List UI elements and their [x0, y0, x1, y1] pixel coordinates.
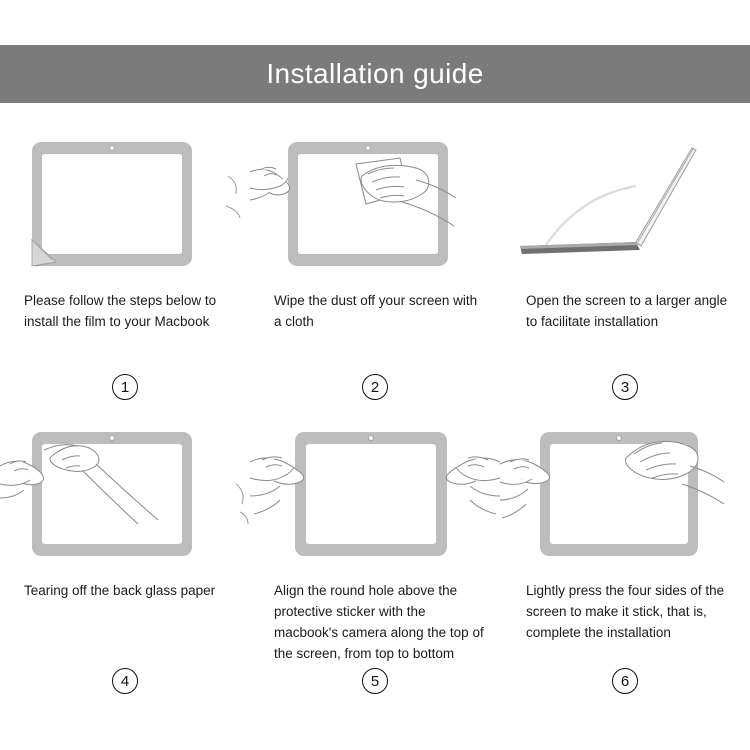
step-caption-2: Wipe the dust off your screen with a clo… [264, 290, 486, 332]
step-card-1: Please follow the steps below to install… [0, 118, 250, 408]
steps-row-bottom: Tearing off the back glass paper 4 [0, 408, 750, 708]
step-card-4: Tearing off the back glass paper 4 [0, 408, 250, 708]
step-number-badge-1: 1 [112, 374, 138, 400]
step-badge-wrap-4: 4 [0, 668, 250, 694]
step-caption-5: Align the round hole above the protectiv… [264, 580, 486, 664]
steps-grid: Please follow the steps below to install… [0, 118, 750, 708]
step-badge-wrap-5: 5 [250, 668, 500, 694]
step-number-badge-3: 3 [612, 374, 638, 400]
step-number-badge-4: 4 [112, 668, 138, 694]
illustration-laptop-open-angle [514, 136, 736, 276]
step-card-5: Align the round hole above the protectiv… [250, 408, 500, 708]
installation-guide-page: Installation guide [0, 0, 750, 750]
illustration-wipe-screen-cloth [250, 136, 500, 276]
illustration-screen-peeling-corner [14, 136, 236, 276]
steps-row-top: Please follow the steps below to install… [0, 118, 750, 408]
step-badge-wrap-3: 3 [500, 374, 750, 400]
illustration-press-screen-sides [500, 426, 750, 566]
step-caption-3: Open the screen to a larger angle to fac… [514, 290, 736, 332]
step-caption-6: Lightly press the four sides of the scre… [514, 580, 736, 643]
step-number-badge-5: 5 [362, 668, 388, 694]
step-card-6: Lightly press the four sides of the scre… [500, 408, 750, 708]
step-card-2: Wipe the dust off your screen with a clo… [250, 118, 500, 408]
step-caption-1: Please follow the steps below to install… [14, 290, 236, 332]
header-banner: Installation guide [0, 45, 750, 103]
step-number-badge-6: 6 [612, 668, 638, 694]
page-title: Installation guide [266, 60, 483, 88]
step-badge-wrap-6: 6 [500, 668, 750, 694]
step-card-3: Open the screen to a larger angle to fac… [500, 118, 750, 408]
illustration-align-film-two-hands [250, 426, 500, 566]
step-number-badge-2: 2 [362, 374, 388, 400]
step-badge-wrap-1: 1 [0, 374, 250, 400]
step-caption-4: Tearing off the back glass paper [14, 580, 236, 601]
illustration-tear-back-paper [0, 426, 250, 566]
step-badge-wrap-2: 2 [250, 374, 500, 400]
